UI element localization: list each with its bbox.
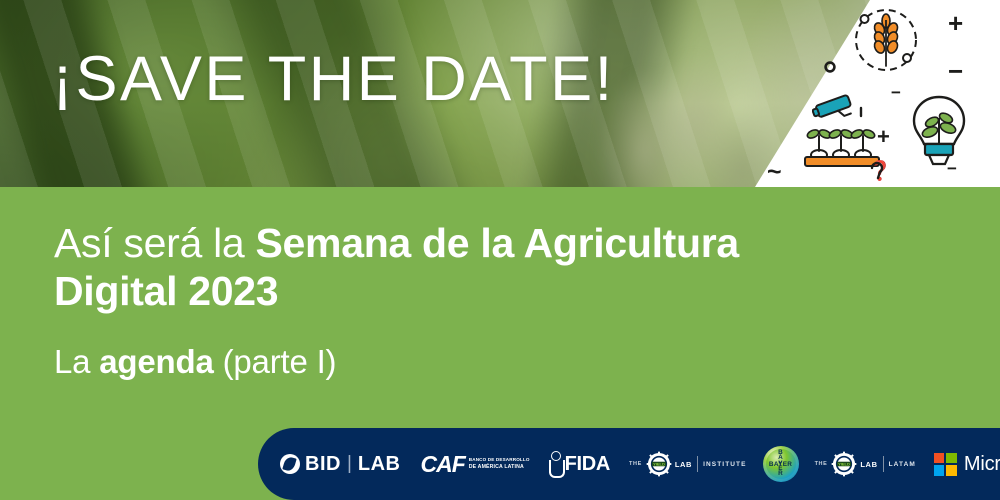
logo-caf[interactable]: CAF BANCO DE DESARROLLO DE AMÉRICA LATIN…	[421, 451, 530, 478]
bid-lab-label: LAB	[358, 453, 401, 476]
yll-the-label: THE	[815, 461, 828, 467]
yli-lab-label: LAB	[675, 460, 692, 469]
sponsor-logo-bar: BID | LAB CAF BANCO DE DESARROLLO DE AMÉ…	[258, 428, 1000, 500]
caf-tagline-line2: DE AMÉRICA LATINA	[469, 464, 524, 470]
wheat-in-dashed-circle-icon	[850, 6, 922, 74]
yll-divider	[883, 456, 884, 472]
bid-logo-icon	[280, 454, 300, 474]
caf-tagline-line1: BANCO DE DESARROLLO	[469, 457, 530, 462]
yll-lab-label: LAB	[860, 460, 877, 469]
subline-trail: (parte I)	[214, 343, 337, 380]
yli-the-label: THE	[629, 461, 642, 467]
subline-lead: La	[54, 343, 99, 380]
svg-text:YIELD: YIELD	[838, 462, 850, 467]
logo-yield-lab-latam[interactable]: THE YIELD LAB LATAM	[815, 451, 916, 477]
logo-bid-lab[interactable]: BID | LAB	[280, 453, 401, 476]
bid-separator: |	[347, 453, 352, 475]
logo-yield-lab-institute[interactable]: THE YIELD LAB INSTITUTE	[629, 451, 747, 477]
minus-symbol-1: −	[948, 58, 963, 84]
plus-symbol-2: +	[877, 126, 890, 148]
bayer-vertical-label: BAYER	[777, 450, 785, 476]
event-headline: Así será la Semana de la Agricultura Dig…	[54, 220, 784, 316]
small-circle-symbol	[823, 60, 837, 74]
yli-divider	[697, 456, 698, 472]
minus-symbol-3: −	[947, 160, 957, 177]
gear-icon-latam: YIELD	[831, 451, 857, 477]
bayer-logo-icon: BAYER BAYER	[766, 449, 796, 479]
logo-fida[interactable]: FIDA	[548, 450, 610, 478]
tilde-symbol: ~	[767, 160, 782, 185]
subline-emphasis: agenda	[99, 343, 213, 380]
caf-tagline: BANCO DE DESARROLLO DE AMÉRICA LATINA	[469, 457, 530, 470]
gear-icon-institute: YIELD	[646, 451, 672, 477]
plus-symbol-1: +	[948, 10, 963, 36]
bayer-cross: BAYER BAYER	[767, 450, 795, 478]
bid-label: BID	[305, 453, 341, 476]
minus-symbol-2: −	[891, 84, 901, 101]
caf-label: CAF	[421, 451, 465, 478]
agritech-icon-cluster: + − − + − ❓ ~	[750, 0, 1000, 187]
hook-symbol	[868, 160, 886, 182]
fida-label: FIDA	[565, 453, 610, 476]
page-title: ¡SAVE THE DATE!	[52, 48, 615, 111]
svg-text:YIELD: YIELD	[653, 462, 665, 467]
fida-logo-icon	[548, 450, 562, 478]
headline-lead: Así será la	[54, 220, 255, 266]
lightbulb-plant-icon	[908, 92, 970, 172]
logo-microsoft[interactable]: Microsoft	[934, 453, 1000, 476]
microsoft-logo-icon	[934, 453, 957, 476]
microsoft-label: Microsoft	[964, 453, 1000, 476]
yll-tag-label: LATAM	[889, 461, 916, 468]
hero-photo-section: ¡SAVE THE DATE!	[0, 0, 1000, 187]
event-subheadline: La agenda (parte I)	[54, 344, 336, 380]
save-the-date-banner: ¡SAVE THE DATE!	[0, 0, 1000, 500]
logo-bayer[interactable]: BAYER BAYER	[763, 446, 799, 482]
yli-tag-label: INSTITUTE	[703, 461, 746, 468]
